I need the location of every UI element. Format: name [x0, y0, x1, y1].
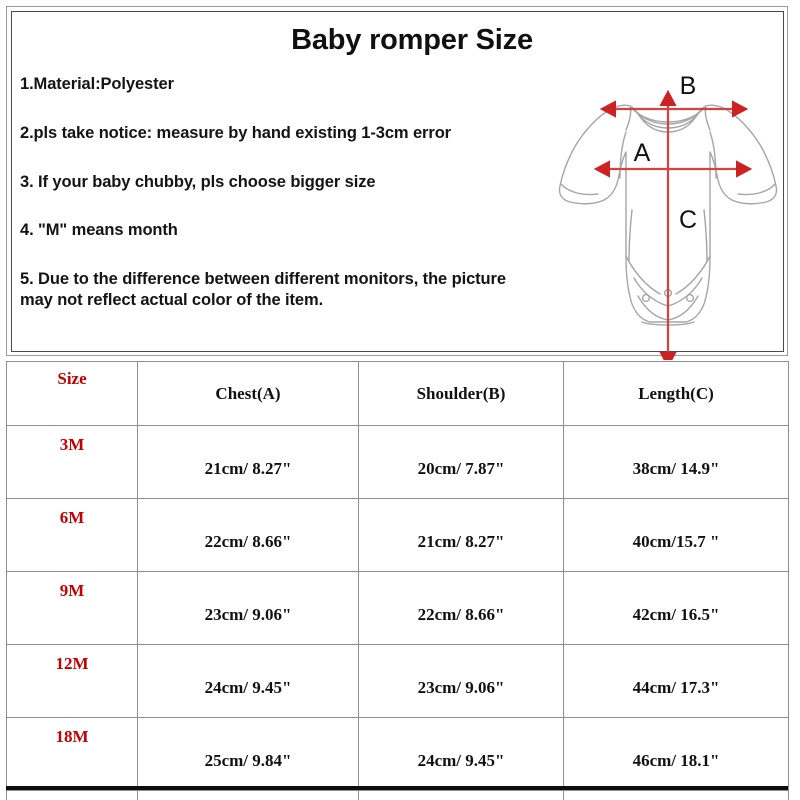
leg-opening-left	[626, 256, 660, 294]
info-panel: Baby romper Size 1.Material:Polyester 2.…	[6, 6, 788, 356]
cell-length: 40cm/15.7 "	[564, 499, 789, 572]
cell-length: 46cm/ 18.1"	[564, 718, 789, 791]
cell-shoulder: 22cm/ 8.66"	[359, 572, 564, 645]
side-seam-right	[704, 210, 707, 262]
cuff-band-left	[561, 184, 598, 195]
cell-size: 6M	[7, 499, 138, 572]
note-item: 5. Due to the difference between differe…	[20, 269, 520, 311]
cell-length: 42cm/ 16.5"	[564, 572, 789, 645]
column-header-size: Size	[7, 362, 138, 426]
cell-chest: 25cm/ 9.84"	[138, 718, 359, 791]
snap-button	[687, 295, 694, 302]
table-row: 18M 25cm/ 9.84" 24cm/ 9.45" 46cm/ 18.1"	[7, 718, 789, 791]
cell-shoulder: 24cm/ 9.45"	[359, 718, 564, 791]
cell-chest: 22cm/ 8.66"	[138, 499, 359, 572]
cell-length: 38cm/ 14.9"	[564, 426, 789, 499]
cell-size: 18M	[7, 718, 138, 791]
leg-opening-right	[676, 256, 710, 294]
cell-chest: 21cm/ 8.27"	[138, 426, 359, 499]
note-item: 4. "M" means month	[20, 220, 530, 241]
cell-size: 9M	[7, 572, 138, 645]
cell-length: 44cm/ 17.3"	[564, 645, 789, 718]
info-panel-inner-frame: Baby romper Size 1.Material:Polyester 2.…	[11, 11, 784, 352]
table-row: 9M 23cm/ 9.06" 22cm/ 8.66" 42cm/ 16.5"	[7, 572, 789, 645]
note-item: 3. If your baby chubby, pls choose bigge…	[20, 172, 530, 193]
cell-chest: 23cm/ 9.06"	[138, 572, 359, 645]
romper-diagram: B A C	[542, 60, 794, 360]
table-row: 12M 24cm/ 9.45" 23cm/ 9.06" 44cm/ 17.3"	[7, 645, 789, 718]
column-header-shoulder: Shoulder(B)	[359, 362, 564, 426]
cell-chest: 24cm/ 9.45"	[138, 645, 359, 718]
label-a: A	[634, 139, 651, 167]
cell-size: 24M	[7, 791, 138, 800]
table-row: 24M 26cm/ 10.24" 25cm/ 9.84" 48cm/ 18.9"	[7, 791, 789, 800]
size-chart-page: Baby romper Size 1.Material:Polyester 2.…	[0, 0, 800, 800]
cell-size: 3M	[7, 426, 138, 499]
side-seam-left	[629, 210, 632, 262]
cell-chest: 26cm/ 10.24"	[138, 791, 359, 800]
page-title: Baby romper Size	[262, 24, 562, 57]
cell-shoulder: 20cm/ 7.87"	[359, 426, 564, 499]
table-bottom-rule	[6, 786, 788, 790]
column-header-chest: Chest(A)	[138, 362, 359, 426]
cell-shoulder: 23cm/ 9.06"	[359, 645, 564, 718]
cuff-band-right	[738, 184, 775, 195]
table-row: 6M 22cm/ 8.66" 21cm/ 8.27" 40cm/15.7 "	[7, 499, 789, 572]
cell-shoulder: 21cm/ 8.27"	[359, 499, 564, 572]
cell-shoulder: 25cm/ 9.84"	[359, 791, 564, 800]
table-header-row: Size Chest(A) Shoulder(B) Length(C)	[7, 362, 789, 426]
label-b: B	[680, 72, 697, 100]
table-row: 3M 21cm/ 8.27" 20cm/ 7.87" 38cm/ 14.9"	[7, 426, 789, 499]
label-c: C	[679, 206, 697, 234]
note-item: 2.pls take notice: measure by hand exist…	[20, 123, 530, 144]
size-table-container: Size Chest(A) Shoulder(B) Length(C) 3M 2…	[6, 361, 788, 800]
size-table: Size Chest(A) Shoulder(B) Length(C) 3M 2…	[6, 361, 789, 800]
cell-length: 48cm/ 18.9"	[564, 791, 789, 800]
column-header-length: Length(C)	[564, 362, 789, 426]
measurement-arrows	[610, 106, 736, 352]
snap-button	[643, 295, 650, 302]
notes-list: 1.Material:Polyester 2.pls take notice: …	[20, 74, 530, 311]
cell-size: 12M	[7, 645, 138, 718]
note-item: 1.Material:Polyester	[20, 74, 530, 95]
